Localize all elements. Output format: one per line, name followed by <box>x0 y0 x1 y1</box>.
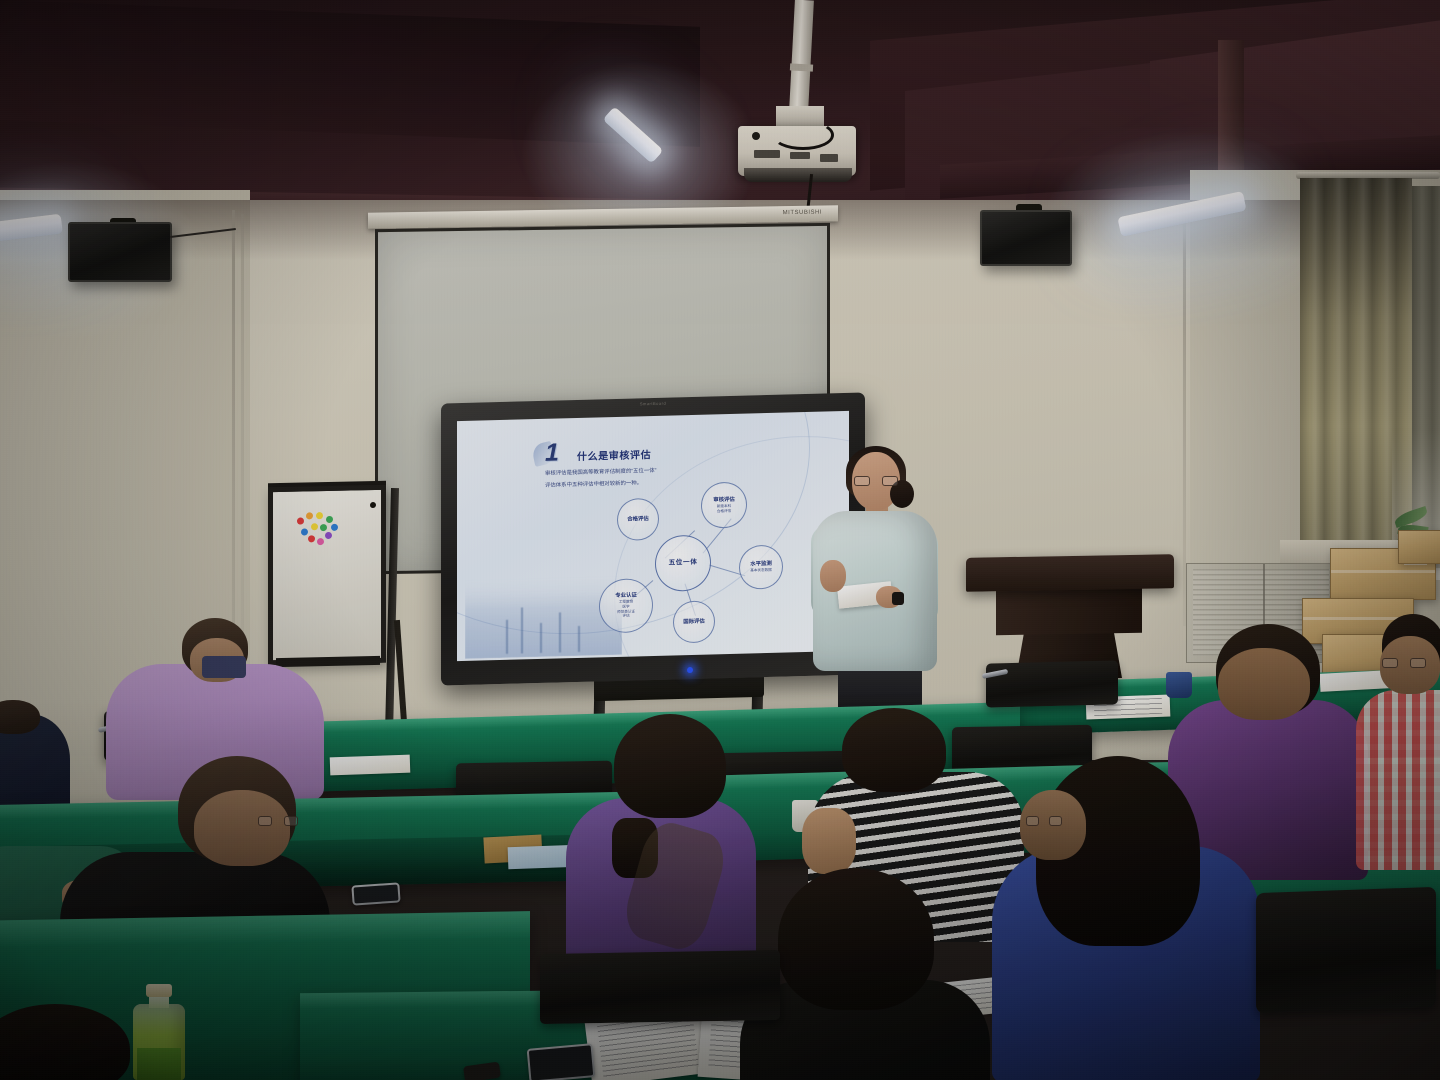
presenter-wristwatch <box>892 592 904 605</box>
bottle-label <box>137 1048 181 1080</box>
slide-number: 1 <box>545 440 559 465</box>
blue-mug[interactable] <box>1166 672 1192 698</box>
speaker-cone-left <box>92 239 148 268</box>
ceiling-beam-left <box>0 0 700 147</box>
diagram-node-2-sub: 基本状态数据 <box>750 568 772 573</box>
diagram-node-0-label: 合格评估 <box>627 516 649 523</box>
attendee-plaid-glasses-icon <box>1382 658 1426 668</box>
attendee-front-hair <box>778 868 934 1010</box>
chair-front-center[interactable] <box>540 950 780 1024</box>
slide-title: 什么是审核评估 <box>577 446 651 463</box>
diagram-node-3-label: 国际评估 <box>683 618 705 625</box>
magnet-9[interactable] <box>301 528 308 535</box>
attendee-blue-lens-l <box>1026 816 1039 826</box>
beverage-bottle[interactable] <box>133 984 185 1080</box>
chair-6-arm <box>982 669 1008 679</box>
diagram-node-center-label: 五位一体 <box>669 559 698 568</box>
slide-ink-wash <box>465 573 622 659</box>
flipchart-knob[interactable] <box>370 502 376 508</box>
whiteboard-flipchart[interactable] <box>268 485 386 665</box>
carton-box-d <box>1398 530 1440 564</box>
attendee-black-lens-l <box>258 816 272 826</box>
attendee-purple-man-head <box>1218 648 1310 720</box>
wall-speaker-left <box>68 222 172 282</box>
projector-cable-loop <box>772 120 834 150</box>
projector-vent-c <box>820 154 838 162</box>
glasses-lens-right <box>882 476 898 486</box>
handout-front-1-lines <box>597 1014 699 1077</box>
diagram-node-1-label: 审核评估 <box>713 496 735 503</box>
magnet-2[interactable] <box>306 512 313 519</box>
glasses-icon <box>854 476 898 486</box>
ink-tree-2 <box>521 607 523 653</box>
projector-lens-housing <box>744 168 852 182</box>
magnet-1[interactable] <box>297 517 304 524</box>
ceiling-pillar-right <box>1218 40 1244 190</box>
chair-6[interactable] <box>986 660 1118 707</box>
ink-tree-1 <box>506 620 508 654</box>
diagram-node-1-sub: 新建本科 合格评估 <box>717 504 731 514</box>
magnet-10[interactable] <box>311 523 318 530</box>
presenter-hand-left <box>820 560 846 592</box>
attendee-black-lens-r <box>284 816 298 826</box>
smartphone-table-2-screen <box>353 884 398 903</box>
magnet-11[interactable] <box>320 524 327 531</box>
attendee-blue-glasses-icon <box>1026 816 1062 826</box>
ink-tree-5 <box>578 626 580 652</box>
ink-tree-4 <box>559 612 561 652</box>
projector-indicator <box>752 132 760 140</box>
magnet-6[interactable] <box>325 532 332 539</box>
handout-r3-1 <box>330 755 411 776</box>
attendee-plaid-lens-l <box>1382 658 1398 668</box>
carton-tape-a <box>1331 570 1435 573</box>
photo-scene: MITSUBISHI <box>0 0 1440 1080</box>
lectern-column <box>996 585 1142 636</box>
magnet-4[interactable] <box>326 516 333 523</box>
magnet-8[interactable] <box>308 535 315 542</box>
attendee-purple-woman-hair <box>614 714 726 818</box>
interactive-flat-panel[interactable]: SmartBoard 1 什么是审核评估 审核评估是我国高等教育评估制度的“五位… <box>441 392 865 685</box>
wall-speaker-right <box>980 210 1072 266</box>
projector-vent-b <box>790 152 810 159</box>
projector-vent-a <box>754 150 780 158</box>
attendee-plaid-lens-r <box>1410 658 1426 668</box>
smartphone-front-screen <box>529 1045 593 1080</box>
smartphone-front[interactable] <box>527 1043 596 1080</box>
diagram-node-4-label: 专业认证 <box>615 592 637 599</box>
magnet-7[interactable] <box>317 538 324 545</box>
bottle-cap <box>146 984 172 997</box>
attendee-black-head <box>194 790 290 866</box>
diagram-node-4-sub: 工程教育 医学 师范类认证 评估 <box>617 600 635 619</box>
attendee-black-glasses-icon <box>258 816 298 826</box>
slide-canvas: 1 什么是审核评估 审核评估是我国高等教育评估制度的“五位一体” 评估体系中五种… <box>457 411 849 661</box>
display-screen[interactable]: 1 什么是审核评估 审核评估是我国高等教育评估制度的“五位一体” 评估体系中五种… <box>457 411 849 661</box>
projector-pole-ring <box>790 63 813 71</box>
magnet-3[interactable] <box>316 512 323 519</box>
glasses-lens-left <box>854 476 870 486</box>
screen-brand-label: MITSUBISHI <box>783 210 822 217</box>
attendee-striped-hair <box>842 708 946 792</box>
attendee-striped-arm <box>802 808 856 874</box>
speaker-cone-right <box>1001 226 1050 253</box>
attendee-blue-lens-r <box>1049 816 1062 826</box>
diagram-node-2-label: 水平监测 <box>750 561 772 568</box>
ink-tree-3 <box>540 623 542 653</box>
lectern[interactable] <box>966 554 1174 592</box>
smartphone-table-2[interactable] <box>351 882 400 905</box>
display-brand-label: SmartBoard <box>640 401 666 407</box>
attendee-navy-head <box>0 700 40 734</box>
attendee-purple-collar <box>202 656 246 678</box>
magnet-5[interactable] <box>331 524 338 531</box>
chair-front-right[interactable] <box>1256 887 1436 1013</box>
attendee-plaid-torso <box>1356 690 1440 870</box>
display-power-led <box>687 667 693 673</box>
